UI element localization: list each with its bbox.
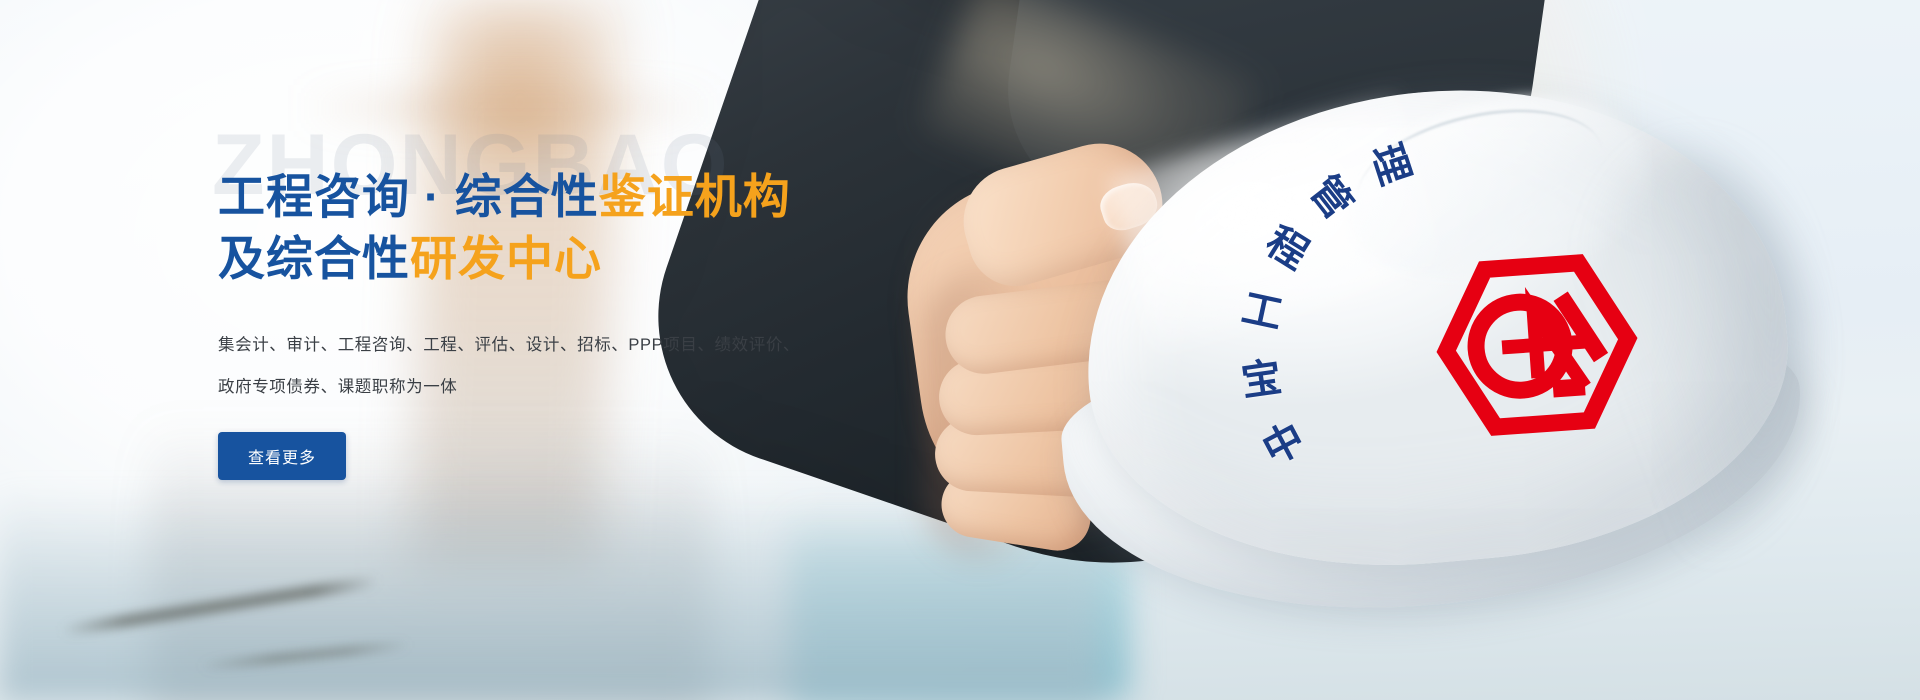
helmet-brand-char: 程 xyxy=(1256,210,1321,280)
description-line-2: 政府专项债券、课题职称为一体 xyxy=(218,366,858,408)
hero-content: ZHONGBAO 工程咨询 · 综合性鉴证机构 及综合性研发中心 集会计、审计、… xyxy=(218,120,858,480)
description: 集会计、审计、工程咨询、工程、评估、设计、招标、PPP项目、绩效评价、 政府专项… xyxy=(218,324,858,408)
headline-line-1-blue: 工程咨询 · 综合性 xyxy=(218,170,599,223)
helmet-brand-char: 理 xyxy=(1361,135,1429,191)
headline-line-2-orange: 研发中心 xyxy=(410,232,602,285)
headline-line-2: 及综合性研发中心 xyxy=(218,228,858,290)
helmet-brand-char: 中 xyxy=(1251,406,1314,476)
description-line-1: 集会计、审计、工程咨询、工程、评估、设计、招标、PPP项目、绩效评价、 xyxy=(218,324,858,366)
view-more-button[interactable]: 查看更多 xyxy=(218,432,346,480)
headline-line-2-blue: 及综合性 xyxy=(218,232,410,285)
hero-banner: 中宝工程管理 ZHONGBAO 工程咨询 · 综合性鉴证机构 及综合性研发中心 xyxy=(0,0,1920,700)
zhongbao-hexagon-logo xyxy=(1426,243,1649,447)
helmet-brand-char: 管 xyxy=(1299,161,1369,228)
helmet-brand-char: 宝 xyxy=(1237,345,1285,408)
helmet-brand-char: 工 xyxy=(1238,276,1289,341)
headline-line-1-orange: 鉴证机构 xyxy=(599,170,791,223)
headline-line-1: 工程咨询 · 综合性鉴证机构 xyxy=(218,166,858,228)
headline: 工程咨询 · 综合性鉴证机构 及综合性研发中心 xyxy=(218,166,858,290)
